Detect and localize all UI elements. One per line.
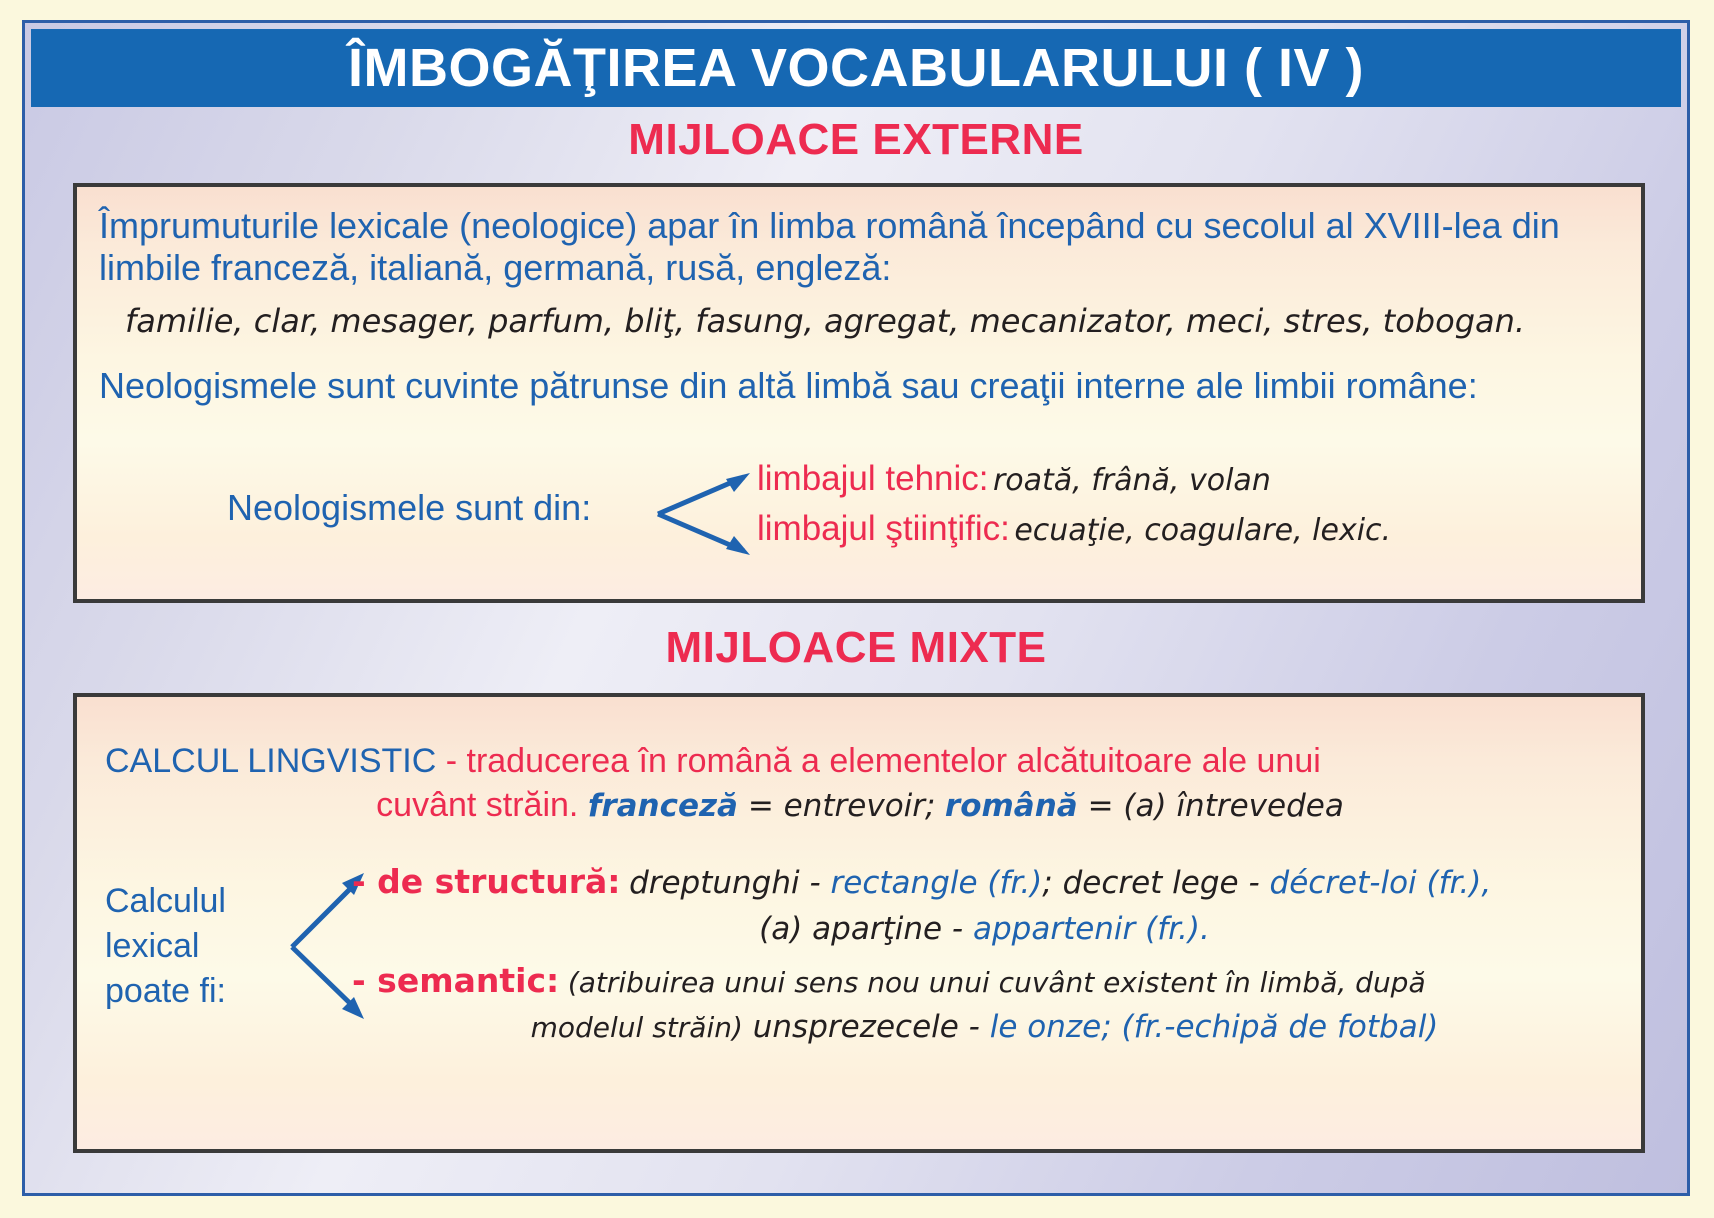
calcul-ro-word: (a) întrevedea — [1123, 788, 1343, 824]
branch-stiintific-label: limbajul ştiinţific: — [757, 509, 1010, 548]
calcul-ro-label: română — [945, 788, 1078, 824]
calcul-definition-line1: traducerea în română a elementelor alcăt… — [467, 742, 1321, 780]
calcul-ro-eq: = — [1078, 788, 1124, 824]
section-caption-externe: MIJLOACE EXTERNE — [25, 115, 1687, 165]
calcul-fr-label: franceză — [588, 788, 738, 824]
structura-line2-a: (a) aparţine - — [759, 911, 973, 947]
branch-stiintific-examples: ecuaţie, coagulare, lexic. — [1014, 513, 1391, 548]
calcul-lingvistic-definition: CALCUL LINGVISTIC - traducerea în română… — [105, 739, 1615, 828]
branch-tehnic-examples: roată, frână, volan — [993, 463, 1271, 498]
semantic-line2-b: unsprezecele - — [743, 1009, 990, 1045]
branch-structura-label: - de structură: — [352, 862, 620, 901]
semantic-line2-c: le onze; (fr.-echipă de fotbal) — [990, 1009, 1439, 1045]
calcul-lexical-left-label: Calculul lexical poate fi: — [105, 879, 226, 1014]
structura-line1-b: rectangle (fr.) — [831, 865, 1043, 901]
poster-title-bar: ÎMBOGĂŢIREA VOCABULARULUI ( IV ) — [31, 29, 1681, 107]
externe-examples-list: familie, clar, mesager, parfum, bliţ, fa… — [125, 302, 1625, 340]
mixte-branch-semantic: - semantic: (atribuirea unui sens nou un… — [352, 959, 1617, 1050]
mixte-branch-structura: - de structură: dreptunghi - rectangle (… — [352, 859, 1617, 952]
poster-frame: ÎMBOGĂŢIREA VOCABULARULUI ( IV ) MIJLOAC… — [22, 20, 1690, 1196]
externe-branch-label: Neologismele sunt din: — [227, 487, 591, 529]
externe-branch-tehnic: limbajul tehnic: roată, frână, volan — [757, 459, 1271, 499]
structura-line1-a: dreptunghi - — [629, 865, 830, 901]
branch-semantic-label: - semantic: — [352, 961, 559, 1000]
semantic-line1: (atribuirea unui sens nou unui cuvânt ex… — [568, 966, 1426, 999]
section-box-mixte: CALCUL LINGVISTIC - traducerea în română… — [73, 693, 1645, 1153]
left-label-line-1: Calculul — [105, 879, 226, 924]
section-box-externe: Împrumuturile lexicale (neologice) apar … — [73, 183, 1645, 603]
calcul-dash: - — [436, 742, 466, 780]
structura-line1-d: décret-loi (fr.), — [1270, 865, 1492, 901]
semantic-line2-a: modelul străin) — [531, 1011, 743, 1044]
section-caption-mixte: MIJLOACE MIXTE — [25, 623, 1687, 673]
calcul-fr-eq: = — [738, 788, 784, 824]
externe-paragraph-2: Neologismele sunt cuvinte pătrunse din a… — [99, 365, 1619, 407]
externe-branch-stiintific: limbajul ştiinţific: ecuaţie, coagulare,… — [757, 509, 1391, 549]
left-label-line-3: poate fi: — [105, 969, 226, 1014]
calcul-definition-line2: cuvânt străin. — [376, 786, 578, 824]
left-label-line-2: lexical — [105, 924, 226, 969]
structura-line1-c: ; decret lege - — [1042, 865, 1269, 901]
calcul-term: CALCUL LINGVISTIC — [105, 742, 436, 780]
structura-line2-b: appartenir (fr.). — [973, 911, 1210, 947]
page-title: ÎMBOGĂŢIREA VOCABULARULUI ( IV ) — [348, 37, 1364, 99]
branch-tehnic-label: limbajul tehnic: — [757, 459, 989, 498]
calcul-fr-word: entrevoir; — [784, 788, 936, 824]
externe-paragraph-1: Împrumuturile lexicale (neologice) apar … — [99, 205, 1619, 289]
branch-arrows-icon — [652, 459, 762, 569]
